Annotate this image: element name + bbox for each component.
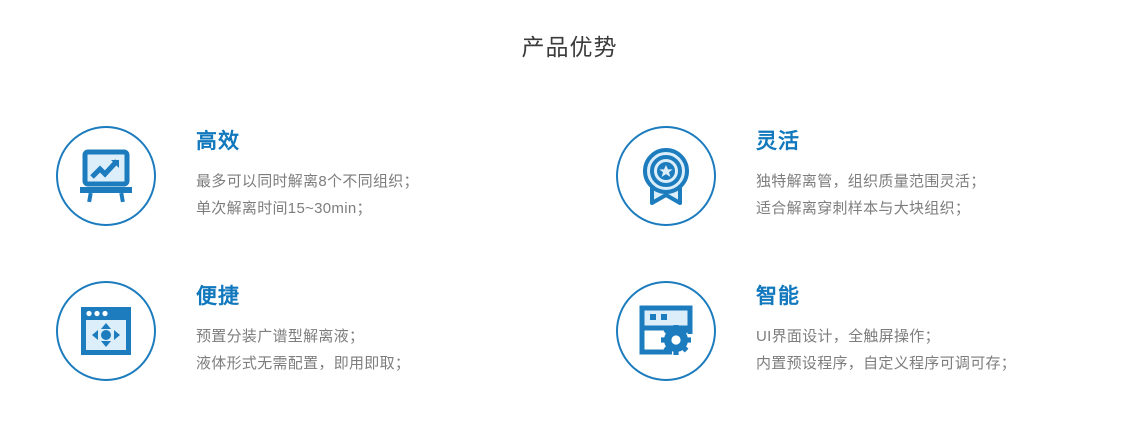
feature-card-intelligent: 智能 UI界面设计，全触屏操作； 内置预设程序，自定义程序可调可存； — [616, 269, 1016, 381]
feature-text: 智能 UI界面设计，全触屏操作； 内置预设程序，自定义程序可调可存； — [756, 269, 1016, 377]
feature-line: 液体形式无需配置，即用即取； — [196, 350, 410, 377]
window-gear-icon — [616, 281, 716, 381]
feature-line: UI界面设计，全触屏操作； — [756, 323, 1016, 350]
feature-grid: 高效 最多可以同时解离8个不同组织； 单次解离时间15~30min； 灵活 独特… — [0, 104, 1139, 424]
feature-line: 单次解离时间15~30min； — [196, 195, 419, 222]
feature-line: 最多可以同时解离8个不同组织； — [196, 168, 419, 195]
feature-line: 独特解离管，组织质量范围灵活； — [756, 168, 986, 195]
presentation-chart-icon — [56, 126, 156, 226]
feature-text: 灵活 独特解离管，组织质量范围灵活； 适合解离穿刺样本与大块组织； — [756, 114, 986, 222]
feature-line: 适合解离穿刺样本与大块组织； — [756, 195, 986, 222]
page-title: 产品优势 — [0, 32, 1139, 62]
feature-title: 智能 — [756, 283, 1016, 311]
award-badge-icon — [616, 126, 716, 226]
feature-title: 便捷 — [196, 283, 410, 311]
feature-card-high-efficiency: 高效 最多可以同时解离8个不同组织； 单次解离时间15~30min； — [56, 114, 419, 226]
feature-text: 便捷 预置分装广谱型解离液； 液体形式无需配置，即用即取； — [196, 269, 410, 377]
feature-line: 预置分装广谱型解离液； — [196, 323, 410, 350]
feature-line: 内置预设程序，自定义程序可调可存； — [756, 350, 1016, 377]
feature-card-flexible: 灵活 独特解离管，组织质量范围灵活； 适合解离穿刺样本与大块组织； — [616, 114, 986, 226]
feature-title: 高效 — [196, 128, 419, 156]
feature-text: 高效 最多可以同时解离8个不同组织； 单次解离时间15~30min； — [196, 114, 419, 222]
feature-card-convenient: 便捷 预置分装广谱型解离液； 液体形式无需配置，即用即取； — [56, 269, 410, 381]
window-move-arrows-icon — [56, 281, 156, 381]
feature-title: 灵活 — [756, 128, 986, 156]
